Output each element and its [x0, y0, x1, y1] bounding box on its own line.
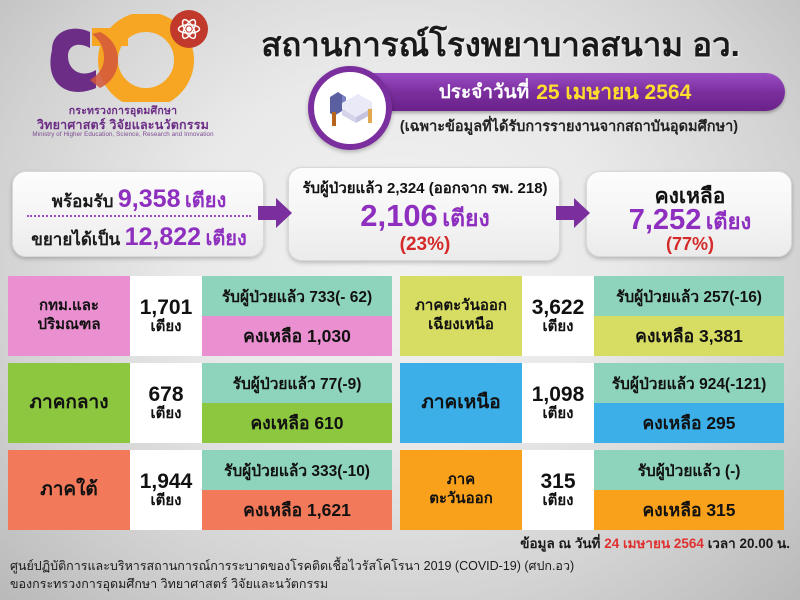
ready-beds-line: พร้อมรับ 9,358 เตียง: [13, 184, 265, 216]
expandable-value: 12,822: [125, 223, 201, 251]
region-bed-value: 315: [540, 471, 575, 493]
region-name-label: ภาคตะวันออก: [425, 471, 497, 509]
ministry-logo: กระทรวงการอุดมศึกษา วิทยาศาสตร์ วิจัยและ…: [28, 10, 218, 142]
region-admitted-cell: รับผู้ป่วยแล้ว 333(-10): [202, 450, 392, 490]
date-subtitle: (เฉพาะข้อมูลที่ได้รับการรายงานจากสถาบันอ…: [345, 115, 793, 138]
page-title: สถานการณ์โรงพยาบาลสนาม อว.: [208, 18, 793, 71]
right-arrow-icon-1: [258, 197, 292, 229]
region-bed-value: 1,944: [140, 471, 193, 493]
logo-english-line: Ministry of Higher Education, Science, R…: [28, 131, 218, 138]
region-bed-unit: เตียง: [151, 493, 182, 509]
expandable-beds-line: ขยายได้เป็น 12,822 เตียง: [13, 222, 265, 254]
footer-line-2: ของกระทรวงการอุดมศึกษา วิทยาศาสตร์ วิจัย…: [10, 574, 790, 594]
hospital-bed-icon: [308, 66, 392, 150]
region-bed-count-cell: 678เตียง: [130, 363, 202, 443]
summary-row: พร้อมรับ 9,358 เตียง ขยายได้เป็น 12,822 …: [0, 165, 800, 263]
as-of-note: ข้อมูล ณ วันที่ 24 เมษายน 2564 เวลา 20.0…: [430, 532, 790, 554]
ready-unit: เตียง: [185, 190, 226, 212]
as-of-suffix: เวลา 20.00 น.: [708, 536, 790, 551]
remaining-unit: เตียง: [706, 209, 751, 234]
region-name-cell: ภาคใต้: [8, 450, 130, 530]
ready-label: พร้อมรับ: [52, 192, 114, 211]
date-banner: ประจำวันที่ 25 เมษายน 2564: [345, 73, 785, 111]
region-admitted-cell: รับผู้ป่วยแล้ว (-): [594, 450, 784, 490]
region-bed-value: 1,701: [140, 297, 193, 319]
region-name-label: ภาคเหนือ: [417, 391, 504, 415]
card-divider: [27, 215, 251, 217]
region-name-label: ภาคใต้: [36, 478, 102, 502]
admitted-card: รับผู้ป่วยแล้ว 2,324 (ออกจาก รพ. 218) 2,…: [288, 167, 560, 261]
region-name-cell: ภาคตะวันออกเฉียงเหนือ: [400, 276, 522, 356]
region-bed-value: 1,098: [532, 384, 585, 406]
region-bed-value: 678: [148, 384, 183, 406]
admitted-value: 2,106: [360, 198, 438, 233]
region-table: กทม.และปริมณฑล1,701เตียงรับผู้ป่วยแล้ว 7…: [8, 276, 792, 530]
remaining-card: คงเหลือ 7,252 เตียง (77%): [586, 171, 792, 257]
region-admitted-cell: รับผู้ป่วยแล้ว 924(-121): [594, 363, 784, 403]
ready-value: 9,358: [118, 185, 181, 213]
region-bed-unit: เตียง: [543, 406, 574, 422]
admitted-percent: (23%): [289, 234, 561, 256]
region-remaining-cell: คงเหลือ 3,381: [594, 316, 784, 356]
region-name-label: กทม.และปริมณฑล: [33, 297, 104, 335]
as-of-date: 24 เมษายน 2564: [604, 536, 704, 551]
expandable-unit: เตียง: [205, 228, 246, 250]
region-admitted-cell: รับผู้ป่วยแล้ว 257(-16): [594, 276, 784, 316]
region-bed-value: 3,622: [532, 297, 585, 319]
region-bed-unit: เตียง: [151, 406, 182, 422]
region-remaining-cell: คงเหลือ 295: [594, 403, 784, 443]
atom-icon: [170, 10, 208, 48]
region-name-label: ภาคกลาง: [26, 391, 113, 415]
region-bed-count-cell: 3,622เตียง: [522, 276, 594, 356]
ready-beds-card: พร้อมรับ 9,358 เตียง ขยายได้เป็น 12,822 …: [12, 171, 264, 257]
region-bed-unit: เตียง: [543, 319, 574, 335]
admitted-unit: เตียง: [442, 205, 490, 231]
region-name-cell: กทม.และปริมณฑล: [8, 276, 130, 356]
admitted-main: 2,106 เตียง: [289, 198, 561, 237]
region-bed-unit: เตียง: [543, 493, 574, 509]
region-name-cell: ภาคเหนือ: [400, 363, 522, 443]
region-bed-count-cell: 1,701เตียง: [130, 276, 202, 356]
region-bed-unit: เตียง: [151, 319, 182, 335]
right-arrow-icon-2: [556, 197, 590, 229]
region-name-label: ภาคตะวันออกเฉียงเหนือ: [411, 297, 511, 335]
admitted-detail: รับผู้ป่วยแล้ว 2,324 (ออกจาก รพ. 218): [289, 176, 561, 200]
footer-line-1: ศูนย์ปฏิบัติการและบริหารสถานการณ์การระบา…: [10, 556, 790, 576]
region-name-cell: ภาคกลาง: [8, 363, 130, 443]
region-remaining-cell: คงเหลือ 610: [202, 403, 392, 443]
date-value: 25 เมษายน 2564: [536, 76, 691, 109]
region-bed-count-cell: 1,944เตียง: [130, 450, 202, 530]
infographic-poster: กระทรวงการอุดมศึกษา วิทยาศาสตร์ วิจัยและ…: [0, 0, 800, 600]
region-remaining-cell: คงเหลือ 1,621: [202, 490, 392, 530]
region-remaining-cell: คงเหลือ 315: [594, 490, 784, 530]
region-remaining-cell: คงเหลือ 1,030: [202, 316, 392, 356]
region-admitted-cell: รับผู้ป่วยแล้ว 77(-9): [202, 363, 392, 403]
date-label: ประจำวันที่: [439, 77, 529, 107]
remaining-percent: (77%): [587, 234, 793, 255]
region-admitted-cell: รับผู้ป่วยแล้ว 733(- 62): [202, 276, 392, 316]
remaining-value: 7,252: [629, 204, 702, 236]
header: กระทรวงการอุดมศึกษา วิทยาศาสตร์ วิจัยและ…: [0, 0, 800, 150]
region-name-cell: ภาคตะวันออก: [400, 450, 522, 530]
as-of-prefix: ข้อมูล ณ วันที่: [520, 536, 600, 551]
expandable-label: ขยายได้เป็น: [31, 230, 120, 249]
region-bed-count-cell: 1,098เตียง: [522, 363, 594, 443]
region-bed-count-cell: 315เตียง: [522, 450, 594, 530]
